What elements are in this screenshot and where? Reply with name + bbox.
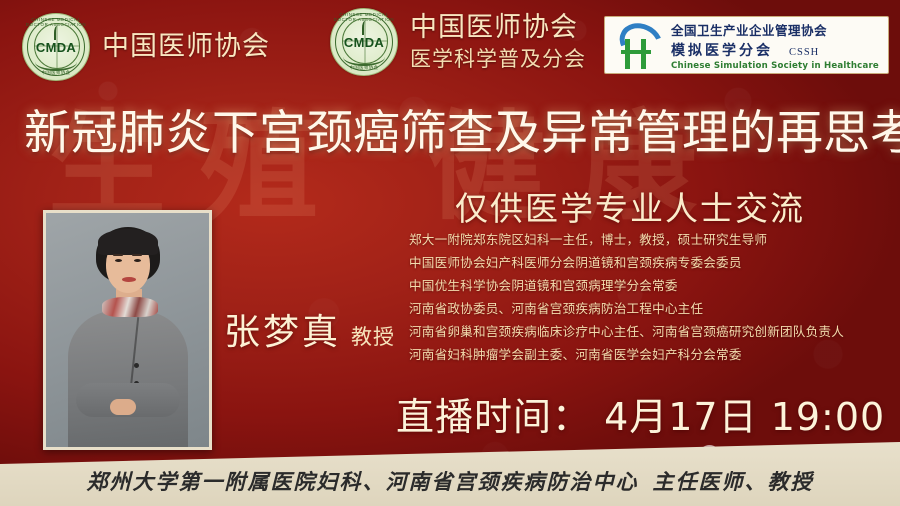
logo-cmda-primary: CHINESE MEDICAL DOCTOR ASSOCIATION CMDA … [22,13,270,81]
cssh-text-block: 全国卫生产业企业管理协会 模拟医学分会 CSSH Chinese Simulat… [671,20,888,71]
bio-line: 河南省政协委员、河南省宫颈疾病防治工程中心主任 [409,297,879,320]
org-name-line2: 医学科学普及分会 [410,47,586,72]
bio-line: 郑大一附院郑东院区妇科一主任，博士，教授，硕士研究生导师 [409,228,879,251]
broadcast-time: 直播时间： 4月17日 19:00 [396,386,885,441]
speaker-name-block: 张梦真 教授 [224,303,395,355]
footer-text: 郑州大学第一附属医院妇科、河南省宫颈疾病防治中心主任医师、教授 [0,466,900,496]
bio-line: 河南省卵巢和宫颈疾病临床诊疗中心主任、河南省宫颈癌研究创新团队负责人 [409,320,879,343]
cssh-abbr: CSSH [789,47,819,58]
org-name-line1: 中国医师协会 [410,12,586,44]
footer-affiliation: 郑州大学第一附属医院妇科、河南省宫颈疾病防治中心 [87,469,639,494]
seal-arc-bottom-text: 中国医师协会 [331,65,397,71]
logo-cssh-card: 全国卫生产业企业管理协会 模拟医学分会 CSSH Chinese Simulat… [604,16,889,74]
poster-canvas: 生殖 健康 CHINESE MEDICAL DOCTOR ASSOCIATION… [0,0,900,506]
bio-line: 中国优生科学协会阴道镜和宫颈病理学分会常委 [409,274,879,297]
header-logo-bar: CHINESE MEDICAL DOCTOR ASSOCIATION CMDA … [0,0,900,96]
poster-subtitle: 仅供医学专业人士交流 [455,182,805,230]
cssh-line1: 全国卫生产业企业管理协会 [671,20,884,39]
org-name-line1: 中国医师协会 [102,31,270,63]
seal-arc-bottom-text: 中国医师协会 [23,70,89,76]
poster-title: 新冠肺炎下宫颈癌筛查及异常管理的再思考 [24,110,882,157]
bio-line: 河南省妇科肿瘤学会副主委、河南省医学会妇产科分会常委 [409,343,879,366]
speaker-rank: 教授 [351,321,395,351]
cssh-line2: 模拟医学分会 [671,40,773,60]
logo-org-names: 中国医师协会 医学科学普及分会 [410,12,586,72]
bio-line: 中国医师协会妇产科医师分会阴道镜和宫颈疾病专委会委员 [409,251,879,274]
cssh-line3-english: Chinese Simulation Society in Healthcare [671,61,884,71]
speaker-name: 张梦真 [224,303,341,355]
speaker-photo [43,210,212,450]
footer-titles: 主任医师、教授 [653,469,814,494]
cssh-logo-icon [609,20,671,70]
logo-cmda-science-popularization: CHINESE MEDICAL DOCTOR ASSOCIATION CMDA … [330,8,586,76]
cmda-seal-icon: CHINESE MEDICAL DOCTOR ASSOCIATION CMDA … [330,8,398,76]
logo-org-names: 中国医师协会 [102,31,270,63]
cmda-seal-icon: CHINESE MEDICAL DOCTOR ASSOCIATION CMDA … [22,13,90,81]
speaker-bio-list: 郑大一附院郑东院区妇科一主任，博士，教授，硕士研究生导师 中国医师协会妇产科医师… [409,228,879,366]
